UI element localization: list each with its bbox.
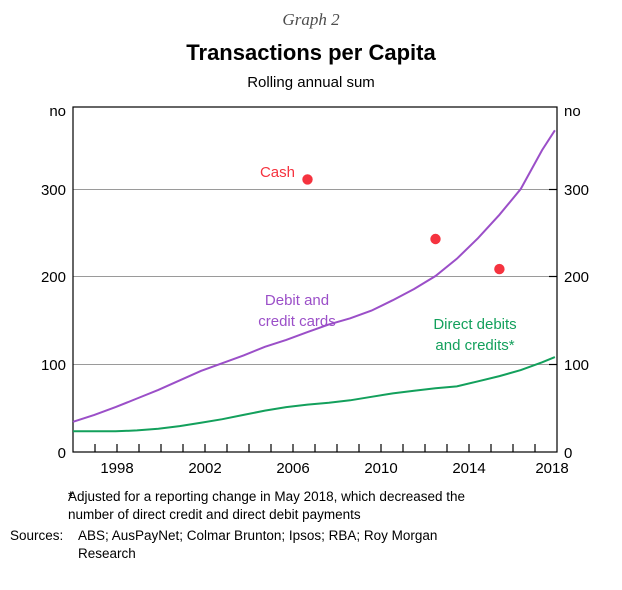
y-axis-right-ticks [549, 190, 557, 365]
plot-frame [73, 107, 557, 452]
series-label-cards-line2: credit cards [258, 313, 336, 330]
footnotes: * Adjusted for a reporting change in May… [0, 488, 622, 566]
x-axis-tick-1998: 1998 [100, 460, 133, 477]
footnote-sources-marker: Sources: [0, 527, 78, 563]
y-axis-right-tick-100: 100 [564, 357, 589, 374]
footnote-star-line2: number of direct credit and direct debit… [68, 506, 594, 524]
y-axis-left-tick-100: 100 [41, 357, 66, 374]
footnote-star-marker: * [0, 488, 68, 524]
y-axis-right-tick-200: 200 [564, 269, 589, 286]
y-axis-right-tick-300: 300 [564, 182, 589, 199]
series-label-direct-line1: Direct debits [433, 316, 516, 333]
y-axis-left-tick-300: 300 [41, 182, 66, 199]
footnote-sources-line1: ABS; AusPayNet; Colmar Brunton; Ipsos; R… [78, 528, 437, 543]
series-label-direct-line2: and credits* [435, 337, 514, 354]
x-axis-tick-2010: 2010 [364, 460, 397, 477]
footnote-sources-line2: Research [78, 545, 594, 563]
cash-point-2007 [302, 174, 312, 184]
footnote-star-line1: Adjusted for a reporting change in May 2… [68, 489, 465, 504]
x-axis-minor-ticks [95, 444, 535, 452]
y-axis-left-unit: no [49, 103, 66, 120]
graph-figure: Graph 2 Transactions per Capita Rolling … [0, 0, 622, 590]
series-label-cards-line1: Debit and [265, 292, 329, 309]
chart-canvas: Cash Debit and credit cards Direct debit… [0, 0, 622, 480]
footnote-star: * Adjusted for a reporting change in May… [0, 488, 622, 524]
y-axis-right-unit: no [564, 103, 581, 120]
y-axis-left-tick-0: 0 [58, 445, 66, 462]
x-axis-tick-2014: 2014 [452, 460, 485, 477]
x-axis-tick-2006: 2006 [276, 460, 309, 477]
x-axis-tick-2002: 2002 [188, 460, 221, 477]
y-axis-left-tick-200: 200 [41, 269, 66, 286]
cash-point-2013 [430, 234, 440, 244]
x-axis-tick-2018: 2018 [535, 460, 568, 477]
series-label-cash: Cash [260, 164, 295, 181]
footnote-star-text: Adjusted for a reporting change in May 2… [68, 488, 622, 524]
footnote-sources: Sources: ABS; AusPayNet; Colmar Brunton;… [0, 527, 622, 563]
footnote-sources-text: ABS; AusPayNet; Colmar Brunton; Ipsos; R… [78, 527, 622, 563]
cash-point-2016 [494, 264, 504, 274]
